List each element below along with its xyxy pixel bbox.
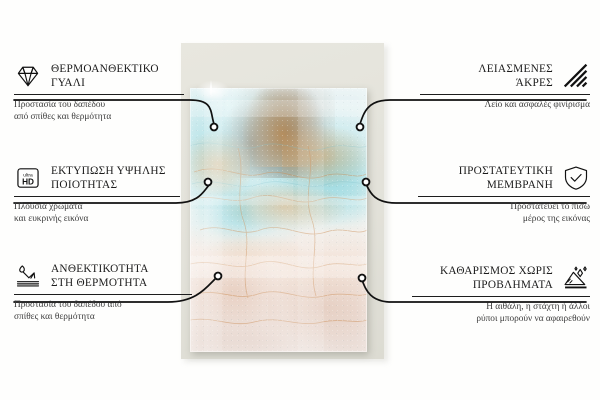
feature-rule — [418, 196, 590, 197]
feature-title: ΑΝΘΕΚΤΙΚΟΤΗΤΑ ΣΤΗ ΘΕΡΜΟΤΗΤΑ — [51, 262, 149, 290]
feature-rule — [420, 94, 590, 95]
feature-heat-durability: ΑΝΘΕΚΤΙΚΟΤΗΤΑ ΣΤΗ ΘΕΡΜΟΤΗΤΑ Προστασία το… — [14, 262, 192, 323]
sparkle-clean-icon — [562, 264, 590, 292]
feature-header: ultra HD ΕΚΤΥΠΩΣΗ ΥΨΗΛΗΣ ΠΟΙΟΤΗΤΑΣ — [14, 164, 184, 192]
feature-rule — [14, 196, 180, 197]
feature-description: Προστασία του δαπέδου από σπίθες και θερ… — [14, 100, 184, 123]
feature-protective-membrane: ΠΡΟΣΤΑΤΕΥΤΙΚΗ ΜΕΜΒΡΑΝΗ Προστατεύει το πί… — [418, 164, 590, 225]
diamond-icon — [14, 62, 42, 90]
marble-artwork — [190, 88, 367, 352]
feature-rule — [14, 294, 192, 295]
feature-description: Πλούσια χρώματα και ευκρινής εικόνα — [14, 202, 184, 225]
heat-resistance-icon — [14, 262, 42, 290]
feature-description: Προστασία του δαπέδου από σπίθες και θερ… — [14, 300, 192, 323]
feature-header: ΑΝΘΕΚΤΙΚΟΤΗΤΑ ΣΤΗ ΘΕΡΜΟΤΗΤΑ — [14, 262, 192, 290]
feature-header: ΚΑΘΑΡΙΣΜΟΣ ΧΩΡΙΣ ΠΡΟΒΛΗΜΑΤΑ — [412, 264, 590, 292]
feature-high-quality-print: ultra HD ΕΚΤΥΠΩΣΗ ΥΨΗΛΗΣ ΠΟΙΟΤΗΤΑΣ Πλούσ… — [14, 164, 184, 225]
feature-heat-resistant-glass: ΘΕΡΜΟΑΝΘΕΚΤΙΚΟ ΓΥΑΛΙ Προστασία του δαπέδ… — [14, 62, 184, 123]
feature-header: ΛΕΙΑΣΜΕΝΕΣ ΆΚΡΕΣ — [420, 62, 590, 90]
feature-description: Η αιθάλη, η στάχτη ή άλλοι ρύποι μπορούν… — [412, 302, 590, 325]
smooth-edges-icon — [562, 62, 590, 90]
feature-header: ΘΕΡΜΟΑΝΘΕΚΤΙΚΟ ΓΥΑΛΙ — [14, 62, 184, 90]
ultra-hd-icon: ultra HD — [14, 164, 42, 192]
feature-title: ΘΕΡΜΟΑΝΘΕΚΤΙΚΟ ΓΥΑΛΙ — [51, 62, 159, 90]
infographic-canvas: ΘΕΡΜΟΑΝΘΕΚΤΙΚΟ ΓΥΑΛΙ Προστασία του δαπέδ… — [0, 0, 600, 400]
product-glass-panel — [190, 88, 367, 352]
feature-rule — [412, 296, 590, 297]
feature-title: ΛΕΙΑΣΜΕΝΕΣ ΆΚΡΕΣ — [478, 62, 553, 90]
feature-description: Προστατεύει το πίσω μέρος της εικόνας — [418, 202, 590, 225]
feature-title: ΚΑΘΑΡΙΣΜΟΣ ΧΩΡΙΣ ΠΡΟΒΛΗΜΑΤΑ — [440, 264, 553, 292]
feature-easy-cleaning: ΚΑΘΑΡΙΣΜΟΣ ΧΩΡΙΣ ΠΡΟΒΛΗΜΑΤΑ Η αι — [412, 264, 590, 325]
shield-check-icon — [562, 164, 590, 192]
feature-header: ΠΡΟΣΤΑΤΕΥΤΙΚΗ ΜΕΜΒΡΑΝΗ — [418, 164, 590, 192]
feature-title: ΠΡΟΣΤΑΤΕΥΤΙΚΗ ΜΕΜΒΡΑΝΗ — [459, 164, 553, 192]
feature-title: ΕΚΤΥΠΩΣΗ ΥΨΗΛΗΣ ΠΟΙΟΤΗΤΑΣ — [51, 164, 166, 192]
feature-smooth-edges: ΛΕΙΑΣΜΕΝΕΣ ΆΚΡΕΣ Λείο και ασφαλές φινίρι… — [420, 62, 590, 112]
feature-rule — [14, 94, 184, 95]
hd-label: HD — [22, 177, 34, 186]
feature-description: Λείο και ασφαλές φινίρισμα — [420, 100, 590, 112]
